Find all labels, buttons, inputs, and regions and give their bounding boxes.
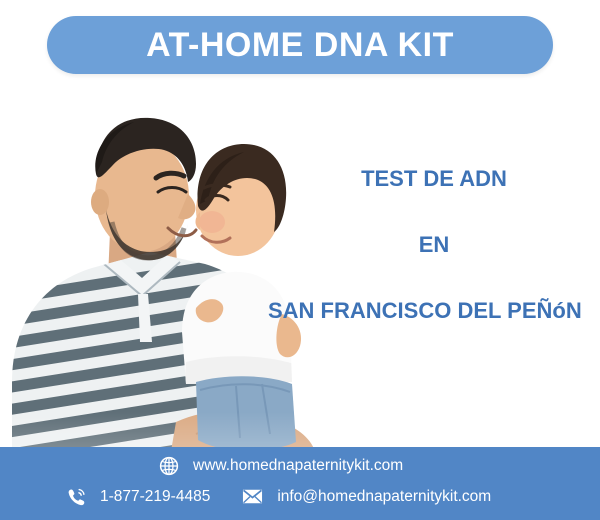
footer-phone-text: 1-877-219-4485 [100, 488, 210, 506]
poster-canvas: AT-HOME DNA KIT [0, 0, 600, 520]
header-title-pill: AT-HOME DNA KIT [47, 16, 553, 74]
globe-icon [158, 455, 179, 476]
headline-line-2: EN [268, 234, 600, 256]
footer-website-row[interactable]: www.homednapaternitykit.com [158, 455, 403, 476]
phone-icon [65, 486, 86, 507]
footer-contact-row: 1-877-219-4485 info@homednapaternitykit.… [65, 486, 491, 507]
footer-email-group[interactable]: info@homednapaternitykit.com [242, 486, 491, 507]
page-title: AT-HOME DNA KIT [146, 28, 454, 62]
envelope-icon [242, 486, 263, 507]
footer-phone-group[interactable]: 1-877-219-4485 [65, 486, 210, 507]
headline-block: TEST DE ADN EN SAN FRANCISCO DEL PEÑóN [268, 160, 600, 322]
headline-line-1: TEST DE ADN [268, 168, 600, 190]
footer-bar: www.homednapaternitykit.com 1-877-219-44… [0, 447, 600, 520]
footer-website-text: www.homednapaternitykit.com [193, 457, 403, 475]
footer-email-text: info@homednapaternitykit.com [277, 488, 491, 506]
headline-line-3-location: SAN FRANCISCO DEL PEÑóN [268, 300, 600, 322]
